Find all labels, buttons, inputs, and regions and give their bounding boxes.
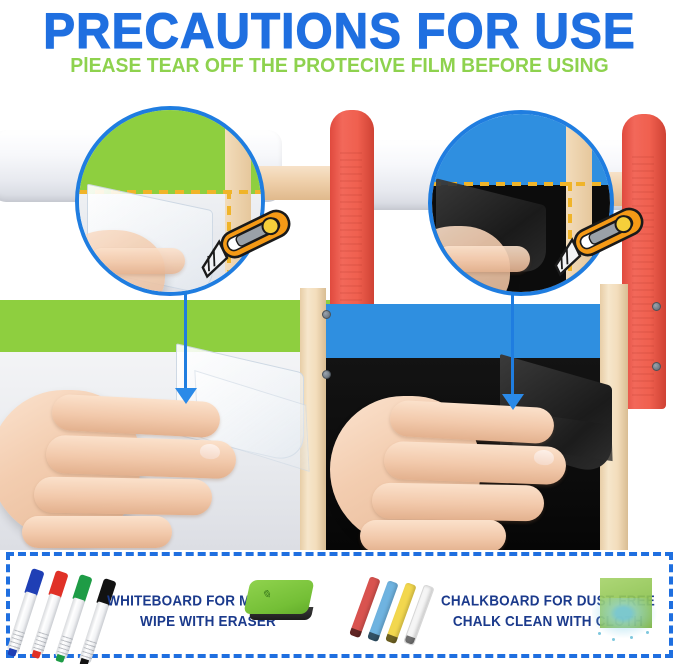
- water-drop: [646, 631, 649, 634]
- little-finger: [22, 516, 172, 548]
- water-splash: [592, 598, 662, 642]
- screw-icon: [322, 310, 331, 319]
- marker-tip: [31, 650, 41, 659]
- ring-finger: [34, 476, 213, 515]
- screw-icon: [652, 302, 661, 311]
- water-drop: [598, 632, 601, 635]
- usage-legend: WHITEBOARD FOR MARKERS WIPE WITH ERASER …: [6, 552, 673, 658]
- cleaning-cloth: [592, 574, 662, 644]
- marker-label: [80, 639, 96, 660]
- green-trim-strip: [0, 300, 330, 352]
- water-drop: [612, 638, 615, 641]
- water-drop: [630, 636, 633, 639]
- arrow-down-icon-right: [502, 394, 524, 410]
- utility-knife-icon-left: [192, 200, 300, 284]
- callout-connector-right: [511, 282, 514, 400]
- whiteboard-eraser: ✎: [247, 580, 319, 632]
- marker-tip: [55, 654, 65, 663]
- ring-finger: [372, 483, 545, 522]
- header: PRECAUTIONS FOR USE PlEASE TEAR OFF THE …: [0, 0, 679, 88]
- product-photo-composite: [0, 88, 679, 550]
- screw-icon: [322, 370, 331, 379]
- finger-zoom: [89, 248, 185, 274]
- blue-trim-strip: [326, 304, 614, 358]
- arrow-down-icon-left: [175, 388, 197, 404]
- marker-label: [56, 635, 72, 656]
- marker-label: [8, 629, 24, 650]
- utility-knife-icon-right: [545, 198, 653, 282]
- precautions-infographic: PRECAUTIONS FOR USE PlEASE TEAR OFF THE …: [0, 0, 679, 664]
- little-finger: [360, 520, 506, 550]
- marker-tip: [7, 648, 17, 657]
- callout-connector-left: [184, 278, 187, 394]
- finger-zoom: [436, 246, 530, 272]
- marker-label: [32, 631, 48, 652]
- screw-icon: [652, 362, 661, 371]
- page-title: PRECAUTIONS FOR USE: [0, 2, 679, 60]
- eraser-logo: ✎: [260, 586, 289, 606]
- page-subtitle: PlEASE TEAR OFF THE PROTECIVE FILM BEFOR…: [0, 55, 679, 78]
